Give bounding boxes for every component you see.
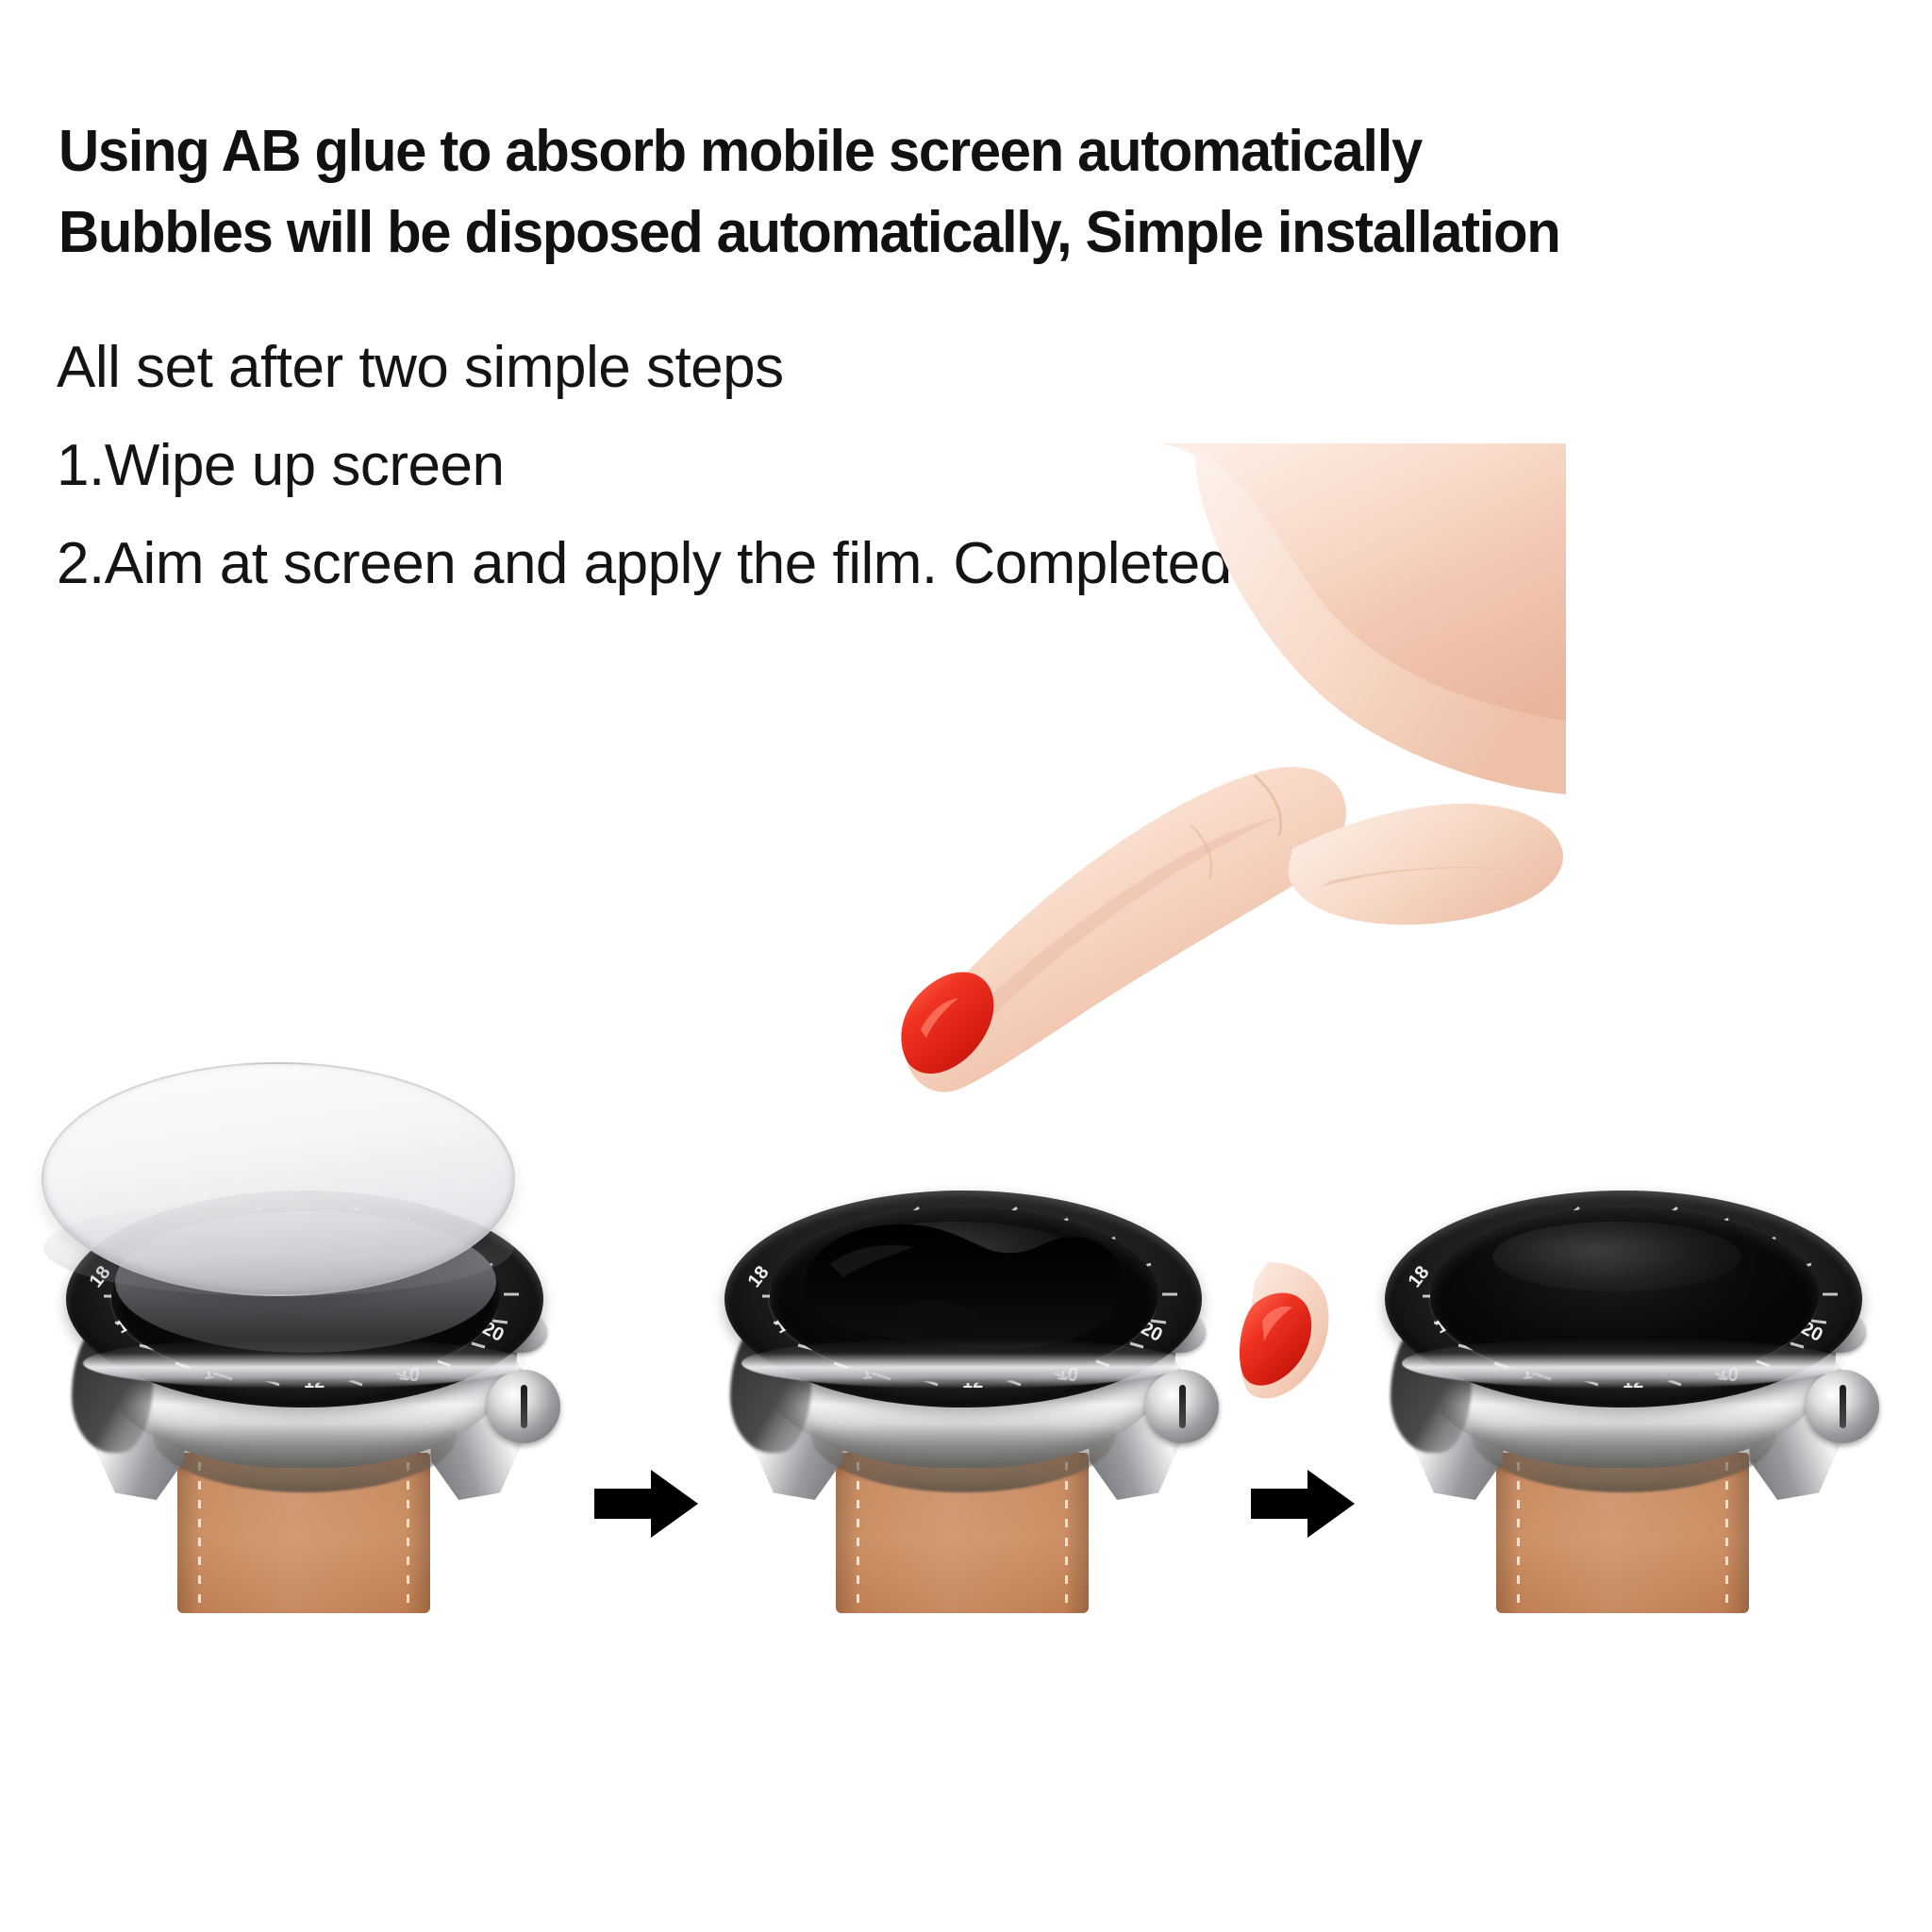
- instructions-block: All set after two simple steps 1.Wipe up…: [57, 319, 1906, 613]
- instructions-step-2: 2.Aim at screen and apply the film. Comp…: [57, 515, 1906, 613]
- film-rim: [43, 1200, 513, 1296]
- watch-case-underside: [811, 1424, 1115, 1492]
- headline-block: Using AB glue to absorb mobile screen au…: [58, 111, 1907, 274]
- arrow-1-icon: [591, 1464, 702, 1543]
- svg-text:18: 18: [1405, 1262, 1434, 1291]
- instructions-intro: All set after two simple steps: [57, 319, 1906, 417]
- instructions-step-1: 1.Wipe up screen: [57, 417, 1906, 515]
- infographic-page: Using AB glue to absorb mobile screen au…: [0, 0, 1932, 1932]
- headline-line-2: Bubbles will be disposed automatically, …: [58, 192, 1842, 274]
- screen-protector-film: [42, 1062, 515, 1296]
- watch-case-underside: [1472, 1424, 1775, 1492]
- watch-case-underside: [153, 1424, 457, 1492]
- dial-sheen: [1492, 1222, 1741, 1291]
- svg-text:18: 18: [744, 1262, 774, 1291]
- watch-step-1: 14 12 10 16 18 20: [0, 1047, 615, 1726]
- bezel-chrome-edge: [741, 1338, 1185, 1389]
- watch-step-3: 14 12 10 16 18 20: [1311, 1047, 1932, 1726]
- steps-illustration: 14 12 10 16 18 20: [0, 1019, 1932, 1736]
- red-nail-second: [1226, 1262, 1343, 1423]
- bezel-chrome-edge: [83, 1338, 526, 1389]
- watch-step-2: 14 12 10 16 18 20: [651, 1047, 1274, 1726]
- headline-line-1: Using AB glue to absorb mobile screen au…: [58, 111, 1842, 192]
- arrow-2-icon: [1247, 1464, 1358, 1543]
- bezel-chrome-edge: [1402, 1338, 1845, 1389]
